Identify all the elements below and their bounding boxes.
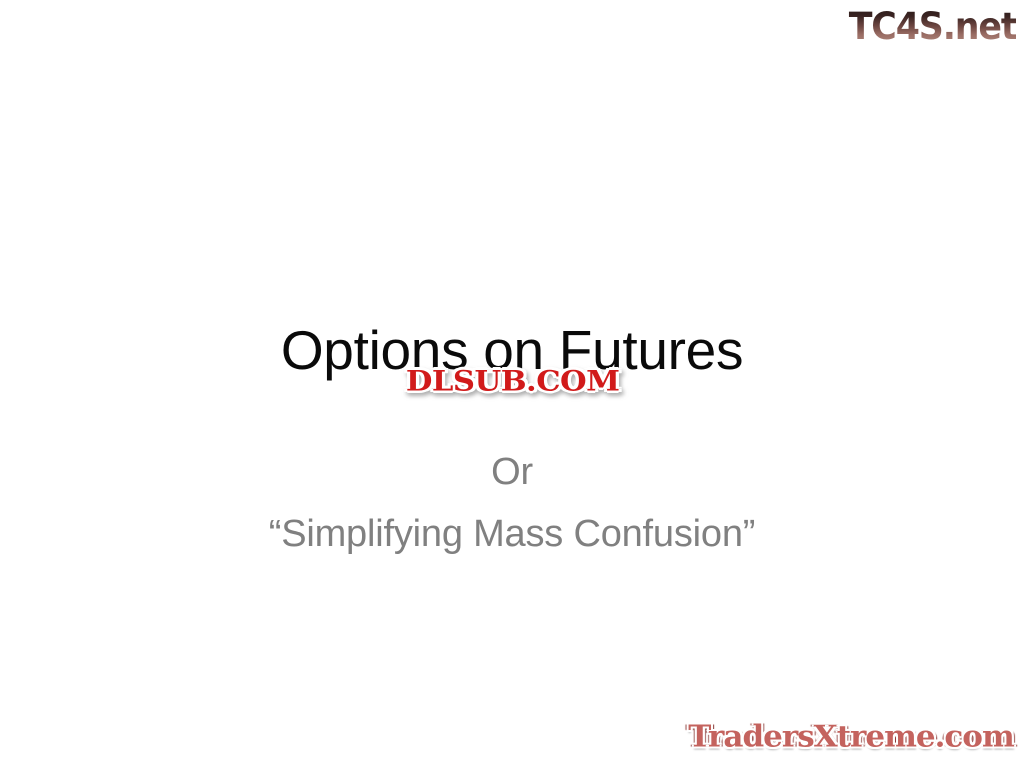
subtitle-line-1: Or bbox=[0, 442, 1024, 504]
tradersxtreme-logo-text: TradersXtreme.com bbox=[688, 722, 1014, 751]
tc4s-logo-text: TC4S.net bbox=[848, 8, 1016, 45]
presentation-slide: TC4S.net Options on Futures DLSUB.COM Or… bbox=[0, 0, 1024, 768]
dlsub-watermark: DLSUB.COM bbox=[366, 361, 660, 403]
dlsub-watermark-text: DLSUB.COM bbox=[406, 368, 620, 396]
subtitle-line-2: “Simplifying Mass Confusion” bbox=[0, 504, 1024, 566]
tc4s-logo: TC4S.net bbox=[830, 2, 1016, 50]
tradersxtreme-logo: TradersXtreme.com bbox=[686, 714, 1016, 760]
slide-subtitle: Or “Simplifying Mass Confusion” bbox=[0, 442, 1024, 565]
